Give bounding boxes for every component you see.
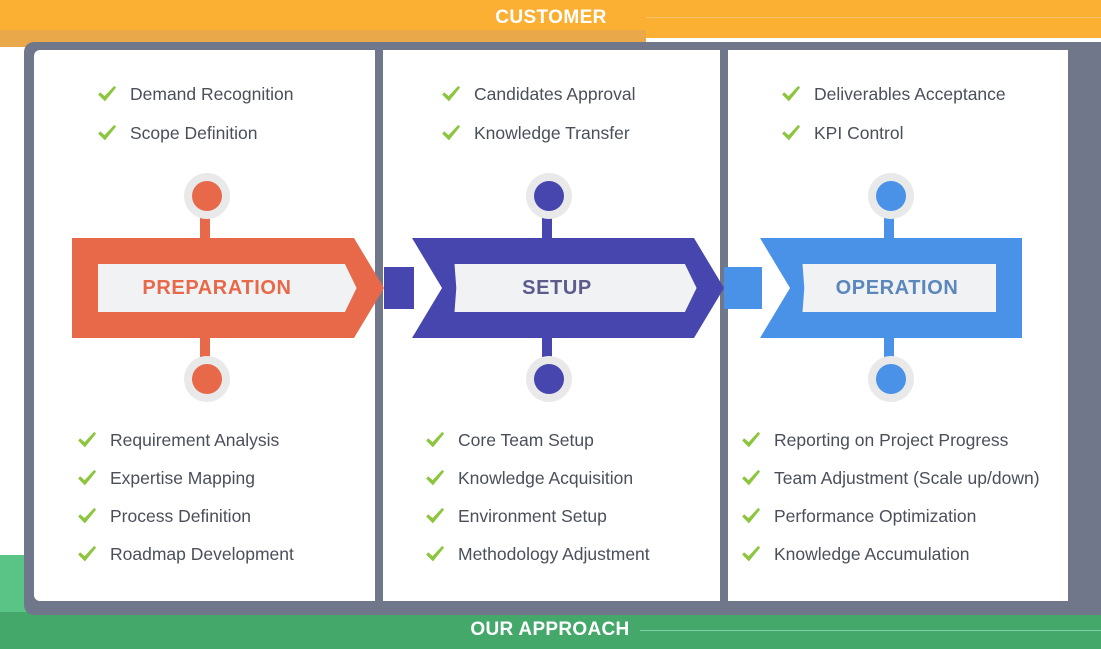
stage-node-bottom-core xyxy=(534,364,564,394)
stage-node-bottom xyxy=(526,356,572,402)
checklist-item: Team Adjustment (Scale up/down) xyxy=(740,467,1040,489)
checklist-item-label: Expertise Mapping xyxy=(110,467,255,489)
checklist-item: KPI Control xyxy=(780,122,903,144)
checklist-item: Core Team Setup xyxy=(424,429,594,451)
approach-banner-label: OUR APPROACH xyxy=(470,617,630,643)
checklist-item: Process Definition xyxy=(76,505,251,527)
stage-connector-arrow xyxy=(724,267,762,309)
check-icon xyxy=(780,83,802,105)
checklist-item-label: Candidates Approval xyxy=(474,83,636,105)
checklist-item: Roadmap Development xyxy=(76,543,294,565)
checklist-item-label: Environment Setup xyxy=(458,505,607,527)
checklist-item: Knowledge Transfer xyxy=(440,122,630,144)
checklist-item: Requirement Analysis xyxy=(76,429,279,451)
check-icon xyxy=(96,122,118,144)
check-icon xyxy=(780,122,802,144)
stage-node-top xyxy=(868,173,914,219)
checklist-item-label: KPI Control xyxy=(814,122,903,144)
approach-banner-rule xyxy=(640,630,1101,631)
stage-node-top xyxy=(526,173,572,219)
checklist-item-label: Demand Recognition xyxy=(130,83,293,105)
checklist-item: Reporting on Project Progress xyxy=(740,429,1008,451)
checklist-item-label: Team Adjustment (Scale up/down) xyxy=(774,467,1040,489)
checklist-item: Knowledge Acquisition xyxy=(424,467,633,489)
check-icon xyxy=(740,505,762,527)
checklist-item-label: Process Definition xyxy=(110,505,251,527)
checklist-item-label: Scope Definition xyxy=(130,122,257,144)
checklist-item-label: Performance Optimization xyxy=(774,505,976,527)
check-icon xyxy=(440,122,462,144)
check-icon xyxy=(740,543,762,565)
check-icon xyxy=(424,467,446,489)
check-icon xyxy=(424,505,446,527)
customer-banner-label: CUSTOMER xyxy=(493,4,609,32)
check-icon xyxy=(76,467,98,489)
checklist-item: Scope Definition xyxy=(96,122,257,144)
check-icon xyxy=(424,543,446,565)
check-icon xyxy=(440,83,462,105)
customer-banner-rule xyxy=(646,17,1101,18)
checklist-item: Performance Optimization xyxy=(740,505,976,527)
stage-title-setup: SETUP xyxy=(412,276,702,300)
check-icon xyxy=(740,467,762,489)
stage-node-bottom-core xyxy=(876,364,906,394)
stage-title-operation: OPERATION xyxy=(766,276,1028,300)
check-icon xyxy=(424,429,446,451)
check-icon xyxy=(96,83,118,105)
checklist-item-label: Roadmap Development xyxy=(110,543,294,565)
customer-banner: CUSTOMER xyxy=(0,0,1101,38)
checklist-item: Environment Setup xyxy=(424,505,607,527)
checklist-item: Demand Recognition xyxy=(96,83,293,105)
checklist-item-label: Knowledge Accumulation xyxy=(774,543,970,565)
check-icon xyxy=(740,429,762,451)
checklist-item: Knowledge Accumulation xyxy=(740,543,970,565)
stage-connector-arrow xyxy=(384,267,414,309)
check-icon xyxy=(76,543,98,565)
checklist-item: Deliverables Acceptance xyxy=(780,83,1006,105)
stage-title-preparation: PREPARATION xyxy=(72,276,362,300)
stage-node-top-core xyxy=(192,181,222,211)
check-icon xyxy=(76,505,98,527)
checklist-item-label: Methodology Adjustment xyxy=(458,543,650,565)
checklist-item: Candidates Approval xyxy=(440,83,636,105)
checklist-item-label: Deliverables Acceptance xyxy=(814,83,1006,105)
stage-node-bottom-core xyxy=(192,364,222,394)
checklist-item-label: Knowledge Acquisition xyxy=(458,467,633,489)
checklist-item-label: Knowledge Transfer xyxy=(474,122,630,144)
checklist-item: Expertise Mapping xyxy=(76,467,255,489)
stage-node-top-core xyxy=(876,181,906,211)
stage-node-bottom xyxy=(868,356,914,402)
checklist-item: Methodology Adjustment xyxy=(424,543,650,565)
checklist-item-label: Reporting on Project Progress xyxy=(774,429,1008,451)
stage-node-top-core xyxy=(534,181,564,211)
checklist-item-label: Requirement Analysis xyxy=(110,429,279,451)
infographic-root: CUSTOMER OUR APPROACH Demand Recognition… xyxy=(0,0,1101,649)
stage-node-bottom xyxy=(184,356,230,402)
check-icon xyxy=(76,429,98,451)
checklist-item-label: Core Team Setup xyxy=(458,429,594,451)
stage-node-top xyxy=(184,173,230,219)
